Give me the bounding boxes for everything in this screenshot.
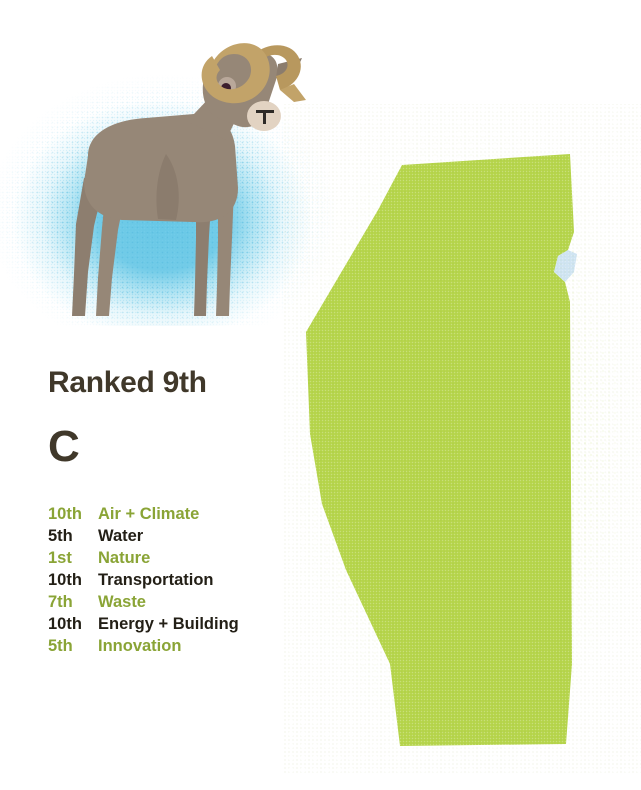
habitat-bottom-cutoff — [0, 326, 330, 366]
alberta-landmass — [306, 154, 574, 746]
report-card-text-block: Ranked 9th C 10th Air + Climate 5th Wate… — [48, 368, 308, 659]
category-rank: 5th — [48, 527, 98, 546]
category-label: Energy + Building — [98, 615, 239, 634]
page-title: Ranked 9th — [48, 368, 308, 398]
category-label: Nature — [98, 549, 150, 568]
category-rank: 10th — [48, 615, 98, 634]
category-label: Innovation — [98, 637, 181, 656]
list-item: 1st Nature — [48, 549, 308, 571]
category-rank: 10th — [48, 571, 98, 590]
list-item: 10th Air + Climate — [48, 505, 308, 527]
category-label: Transportation — [98, 571, 214, 590]
category-rank: 1st — [48, 549, 98, 568]
map-container — [282, 104, 641, 774]
category-ranking-list: 10th Air + Climate 5th Water 1st Nature … — [48, 469, 308, 659]
category-label: Waste — [98, 593, 146, 612]
list-item: 10th Transportation — [48, 571, 308, 593]
category-label: Air + Climate — [98, 505, 199, 524]
category-label: Water — [98, 527, 143, 546]
list-item: 10th Energy + Building — [48, 615, 308, 637]
list-item: 5th Water — [48, 527, 308, 549]
category-rank: 7th — [48, 593, 98, 612]
report-card-infographic: Ranked 9th C 10th Air + Climate 5th Wate… — [0, 0, 641, 790]
alberta-map-shape — [282, 104, 641, 774]
list-item: 5th Innovation — [48, 637, 308, 659]
category-rank: 5th — [48, 637, 98, 656]
grade-letter: C — [48, 398, 308, 469]
category-rank: 10th — [48, 505, 98, 524]
bighorn-sheep-illustration — [18, 28, 308, 328]
list-item: 7th Waste — [48, 593, 308, 615]
